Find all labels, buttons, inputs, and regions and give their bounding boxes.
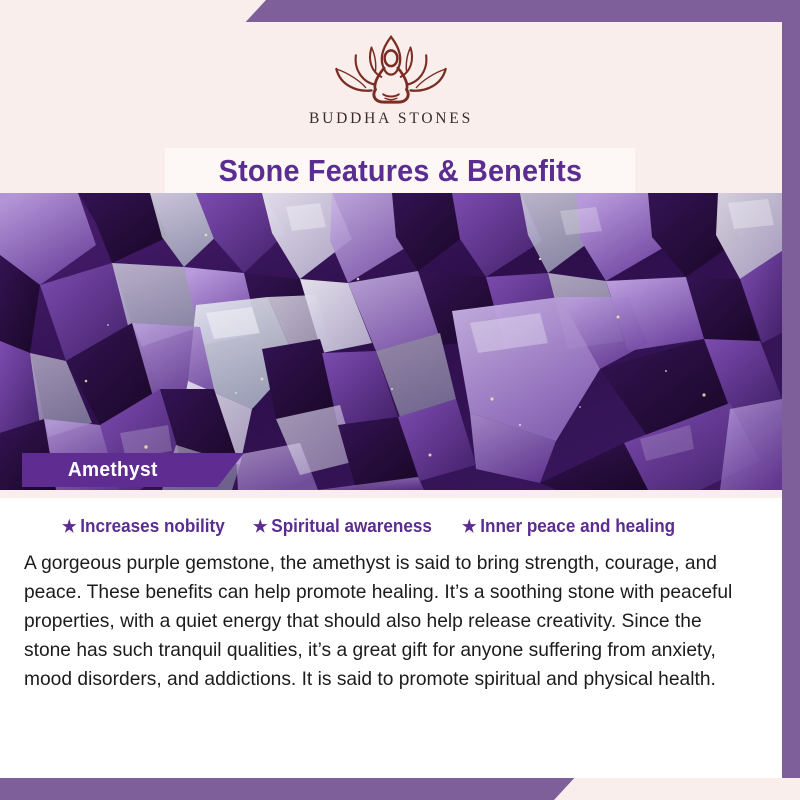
page-title: Stone Features & Benefits	[218, 153, 582, 189]
star-icon: ★	[462, 518, 476, 535]
frame-corner-bottom-right	[600, 778, 800, 800]
infographic-page: BUDDHA STONES Stone Features & Benefits	[0, 0, 800, 800]
description-panel: ★ Increases nobility ★ Spiritual awarene…	[0, 498, 782, 778]
brand-logo-block: BUDDHA STONES	[0, 28, 782, 128]
divider-strip	[0, 490, 782, 498]
benefit-item-1: ★ Increases nobility	[62, 516, 225, 537]
benefit-item-2: ★ Spiritual awareness	[253, 516, 432, 537]
amethyst-photo: Amethyst	[0, 193, 782, 490]
benefit-item-3: ★ Inner peace and healing	[462, 516, 675, 537]
amethyst-crystal-illustration	[0, 193, 782, 490]
brand-name: BUDDHA STONES	[309, 110, 473, 128]
content-card: BUDDHA STONES Stone Features & Benefits	[0, 22, 782, 778]
stone-description: A gorgeous purple gemstone, the amethyst…	[24, 549, 747, 694]
benefit-label-1: Increases nobility	[80, 516, 224, 537]
benefit-label-2: Spiritual awareness	[272, 516, 433, 537]
benefits-list: ★ Increases nobility ★ Spiritual awarene…	[24, 516, 758, 537]
page-title-plate: Stone Features & Benefits	[165, 148, 635, 193]
lotus-meditation-icon	[301, 28, 481, 108]
stone-name-banner: Amethyst	[22, 453, 244, 487]
star-icon: ★	[253, 518, 267, 535]
header-section: BUDDHA STONES Stone Features & Benefits	[0, 22, 782, 193]
stone-name: Amethyst	[68, 459, 158, 482]
benefit-label-3: Inner peace and healing	[480, 516, 675, 537]
star-icon: ★	[62, 518, 76, 535]
frame-corner-top-left	[0, 0, 230, 22]
